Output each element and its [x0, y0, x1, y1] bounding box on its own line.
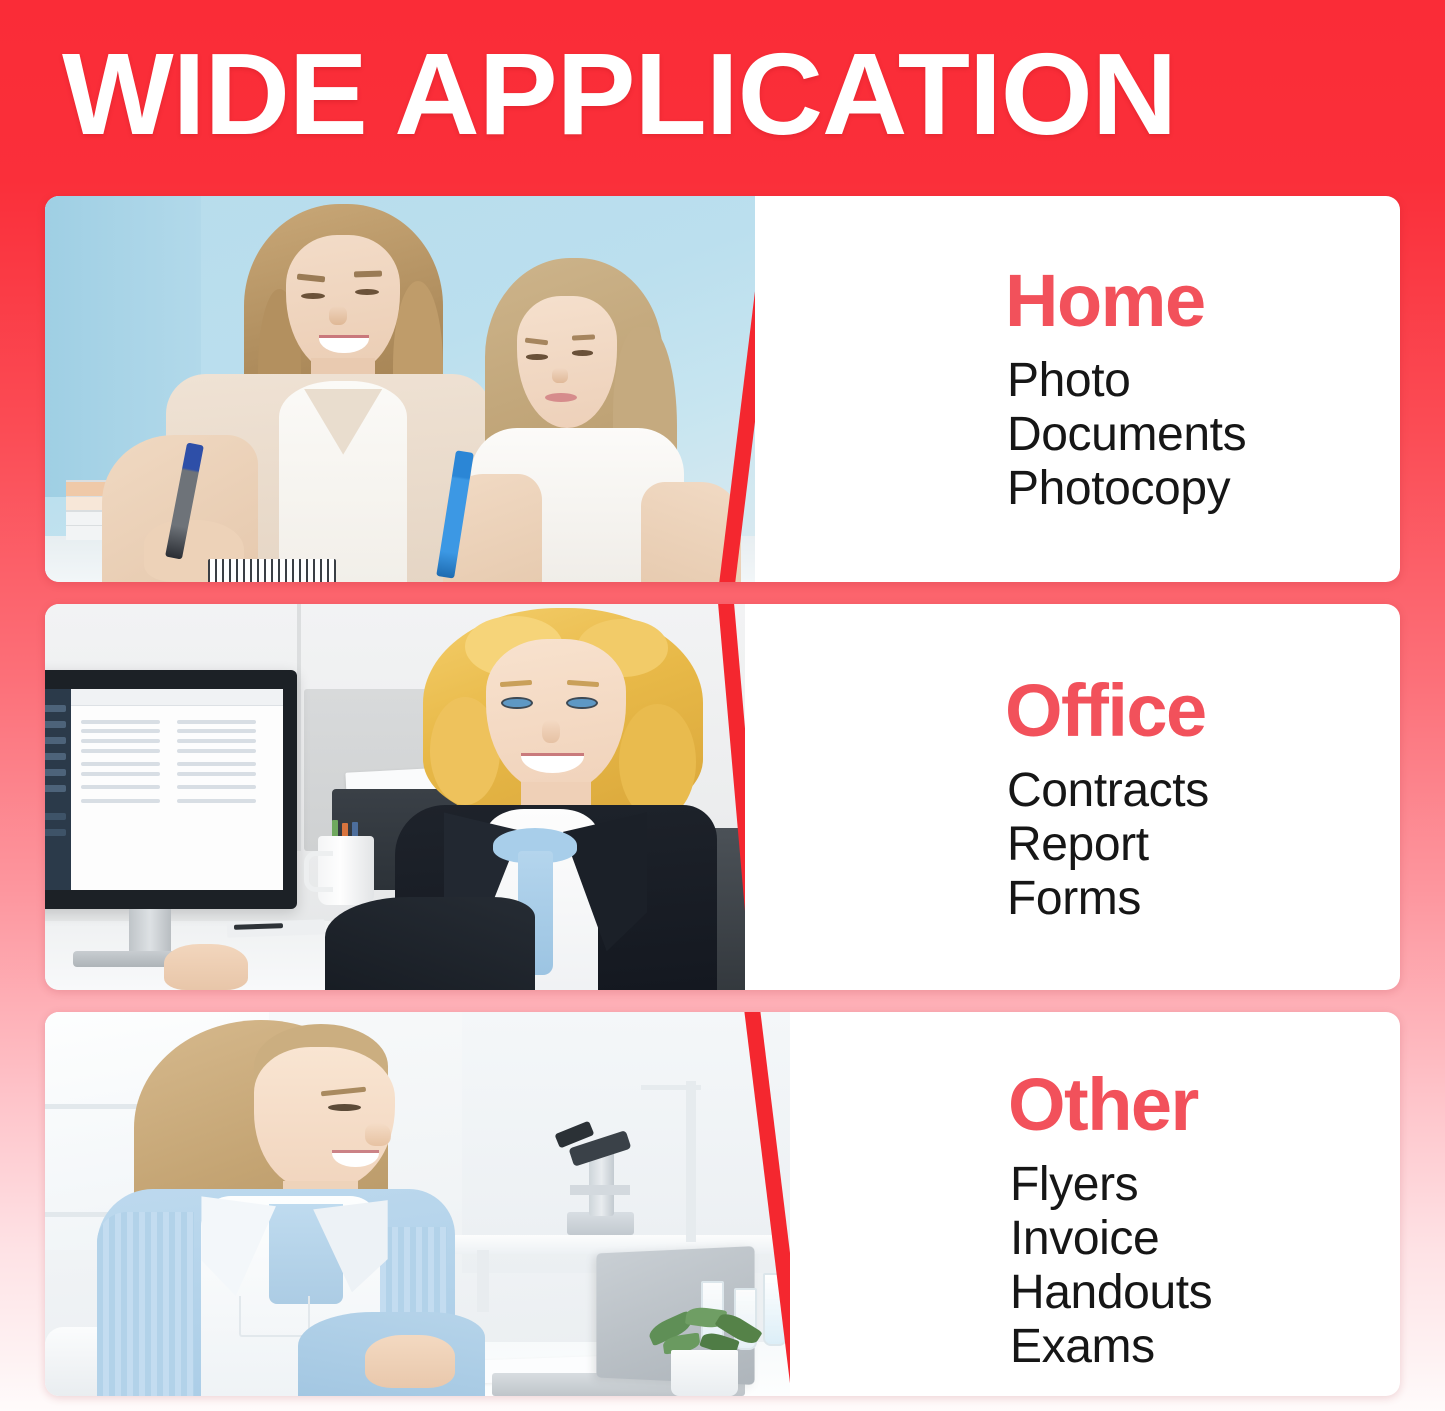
application-card-office: Office Contracts Report Forms	[45, 604, 1400, 990]
cardigan-ribbing-left	[97, 1212, 194, 1396]
card-list-other: Flyers Invoice Handouts Exams	[1010, 1158, 1212, 1374]
screen-toolbar	[71, 689, 283, 706]
page-title: WIDE APPLICATION	[62, 36, 1176, 152]
bench-leg-left	[477, 1250, 489, 1311]
screen-text-column-left	[81, 713, 167, 878]
title-banner: WIDE APPLICATION	[0, 0, 1445, 180]
card-photo-home	[45, 196, 755, 582]
woman-eye-right	[566, 697, 598, 709]
card-heading-home: Home	[1005, 264, 1205, 338]
plant-pot	[671, 1350, 738, 1396]
woman-eye-left	[301, 293, 325, 299]
woman-nose	[365, 1123, 390, 1146]
girl-nose	[552, 368, 568, 383]
microscope-stage	[570, 1185, 630, 1195]
monitor-screen	[45, 689, 283, 890]
woman-hand-on-mouse	[164, 944, 248, 990]
screen-text-column-right	[177, 713, 263, 878]
photo-office-scene	[45, 604, 745, 990]
wall-divider	[297, 604, 301, 851]
card-heading-office: Office	[1005, 674, 1206, 748]
list-item: Forms	[1007, 872, 1209, 926]
application-card-other: Other Flyers Invoice Handouts Exams	[45, 1012, 1400, 1396]
woman-eye-right	[355, 289, 379, 295]
wide-application-infographic: WIDE APPLICATION	[0, 0, 1445, 1411]
woman-eye	[328, 1104, 361, 1111]
card-text-other: Other Flyers Invoice Handouts Exams	[790, 1012, 1400, 1396]
mug-handle	[304, 851, 333, 892]
lab-coat-pocket	[239, 1296, 310, 1336]
girl-eye-right	[572, 350, 593, 355]
photo-home-scene	[45, 196, 755, 582]
girl-eye-left	[526, 354, 547, 359]
card-list-office: Contracts Report Forms	[1007, 764, 1209, 926]
list-item: Documents	[1007, 408, 1246, 462]
woman-nose	[542, 720, 560, 743]
card-photo-other	[45, 1012, 790, 1396]
notebook	[208, 559, 336, 582]
card-list-home: Photo Documents Photocopy	[1007, 354, 1246, 516]
card-text-home: Home Photo Documents Photocopy	[755, 196, 1400, 582]
woman-face-profile	[254, 1047, 396, 1189]
card-heading-other: Other	[1008, 1068, 1198, 1142]
list-item: Report	[1007, 818, 1209, 872]
list-item: Handouts	[1010, 1266, 1212, 1320]
woman-arm	[325, 897, 535, 990]
list-item: Photo	[1007, 354, 1246, 408]
list-item: Invoice	[1010, 1212, 1212, 1266]
card-text-office: Office Contracts Report Forms	[745, 604, 1400, 990]
photo-lab-scene	[45, 1012, 790, 1396]
application-card-home: Home Photo Documents Photocopy	[45, 196, 1400, 582]
list-item: Flyers	[1010, 1158, 1212, 1212]
screen-sidebar	[45, 689, 71, 890]
list-item: Exams	[1010, 1320, 1212, 1374]
list-item: Photocopy	[1007, 462, 1246, 516]
woman-nose	[329, 306, 347, 325]
lab-stand-pole	[686, 1081, 696, 1242]
woman-clasped-hands	[365, 1335, 454, 1389]
monitor-stand-neck	[129, 909, 171, 955]
card-photo-office	[45, 604, 745, 990]
hair-curl-right	[619, 704, 696, 820]
list-item: Contracts	[1007, 764, 1209, 818]
